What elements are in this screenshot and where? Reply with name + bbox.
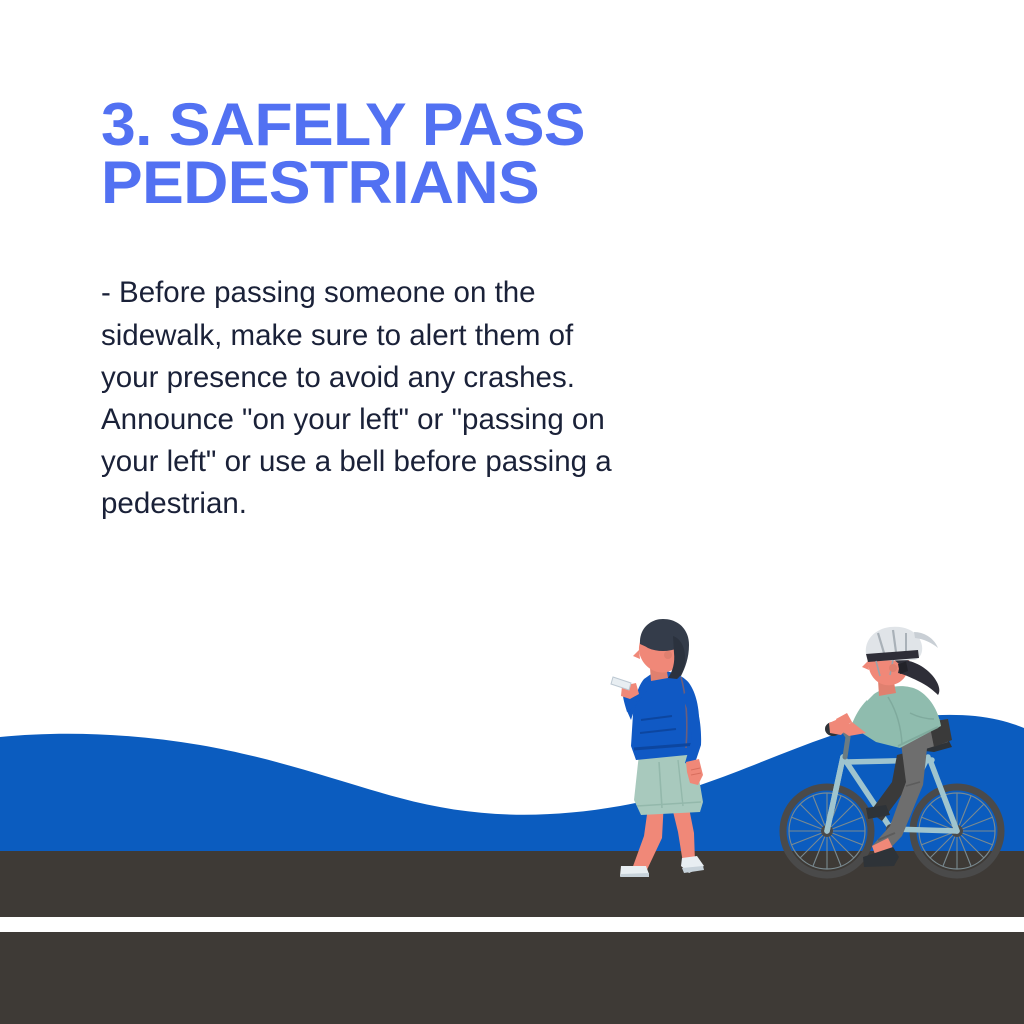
body-paragraph: - Before passing someone on the sidewalk…	[101, 212, 626, 525]
road-surface-lower	[0, 932, 1024, 1024]
road-surface-upper	[0, 851, 1024, 917]
road-lane-marking	[0, 917, 1024, 932]
poster-canvas: 3. SAFELY PASS PEDESTRIANS - Before pass…	[0, 0, 1024, 1024]
text-content-block: 3. SAFELY PASS PEDESTRIANS - Before pass…	[101, 96, 641, 525]
page-title: 3. SAFELY PASS PEDESTRIANS	[101, 96, 663, 212]
